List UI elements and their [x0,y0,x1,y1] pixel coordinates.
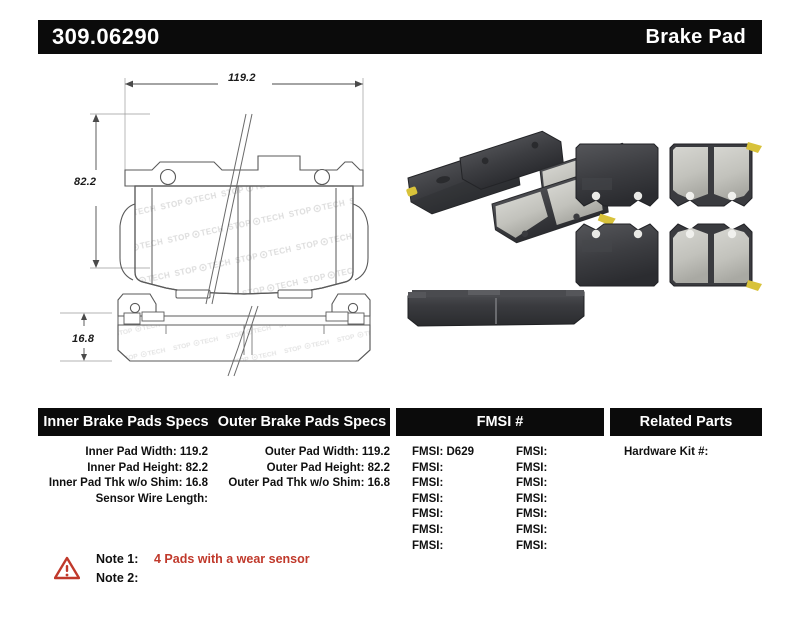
fmsi-row: FMSI: [402,523,506,539]
note-rows: Note 1: 4 Pads with a wear sensor Note 2… [96,550,310,588]
note-1-row: Note 1: 4 Pads with a wear sensor [96,550,310,569]
fmsi-subcolumn-right: FMSI: FMSI: FMSI: FMSI: FMSI: FMSI: FMSI… [506,445,610,554]
spec-table: Inner Brake Pads Specs Outer Brake Pads … [38,408,762,554]
spec-row: Outer Pad Width: 119.2 [220,445,396,461]
product-type: Brake Pad [645,27,746,47]
spec-row: Inner Pad Thk w/o Shim: 16.8 [38,476,214,492]
header-bar: 309.06290 Brake Pad [38,20,762,54]
fmsi-row: FMSI: [402,492,506,508]
col-header-outer-specs: Outer Brake Pads Specs [214,408,390,436]
fmsi-row: FMSI: [506,523,610,539]
fmsi-row: FMSI: [506,461,610,477]
note-2-label: Note 2: [96,569,146,588]
notes-section: Note 1: 4 Pads with a wear sensor Note 2… [48,550,648,600]
fmsi-row: FMSI: D629 [402,445,506,461]
photo-edge-profile [408,290,584,326]
note-2-row: Note 2: [96,569,310,588]
related-parts-column: Hardware Kit #: [616,445,762,554]
fmsi-row: FMSI: [402,476,506,492]
fmsi-row: FMSI: [506,492,610,508]
col-header-inner-specs: Inner Brake Pads Specs [38,408,214,436]
spec-row: Outer Pad Height: 82.2 [220,461,396,477]
fmsi-row: FMSI: [402,507,506,523]
fmsi-row: FMSI: [506,445,610,461]
fmsi-column: FMSI: D629 FMSI: FMSI: FMSI: FMSI: FMSI:… [402,445,610,554]
fmsi-row: FMSI: [506,476,610,492]
table-header-row: Inner Brake Pads Specs Outer Brake Pads … [38,408,762,436]
warning-icon [54,556,80,580]
note-1-label: Note 1: [96,550,146,569]
fmsi-row: FMSI: [506,507,610,523]
pad-specs-header-group: Inner Brake Pads Specs Outer Brake Pads … [38,408,390,436]
spec-row: Inner Pad Height: 82.2 [38,461,214,477]
fmsi-subcolumn-left: FMSI: D629 FMSI: FMSI: FMSI: FMSI: FMSI:… [402,445,506,554]
spec-row: Outer Pad Thk w/o Shim: 16.8 [220,476,396,492]
table-body: Inner Pad Width: 119.2 Inner Pad Height:… [38,436,762,554]
outer-specs-column: Outer Pad Width: 119.2 Outer Pad Height:… [220,445,396,554]
product-photos [0,58,800,398]
part-number: 309.06290 [52,26,160,48]
inner-specs-column: Inner Pad Width: 119.2 Inner Pad Height:… [38,445,214,554]
related-part-row: Hardware Kit #: [616,445,762,461]
technical-drawing: 119.2 82.2 16.8 STOP TECH STOP [0,58,800,398]
spec-row: Inner Pad Width: 119.2 [38,445,214,461]
col-header-fmsi: FMSI # [396,408,604,436]
note-1-value: 4 Pads with a wear sensor [146,550,310,569]
fmsi-row: FMSI: [402,461,506,477]
col-header-related-parts: Related Parts [610,408,762,436]
spec-sheet: 309.06290 Brake Pad 119.2 82.2 16.8 STOP… [0,0,800,619]
spec-row: Sensor Wire Length: [38,492,214,508]
